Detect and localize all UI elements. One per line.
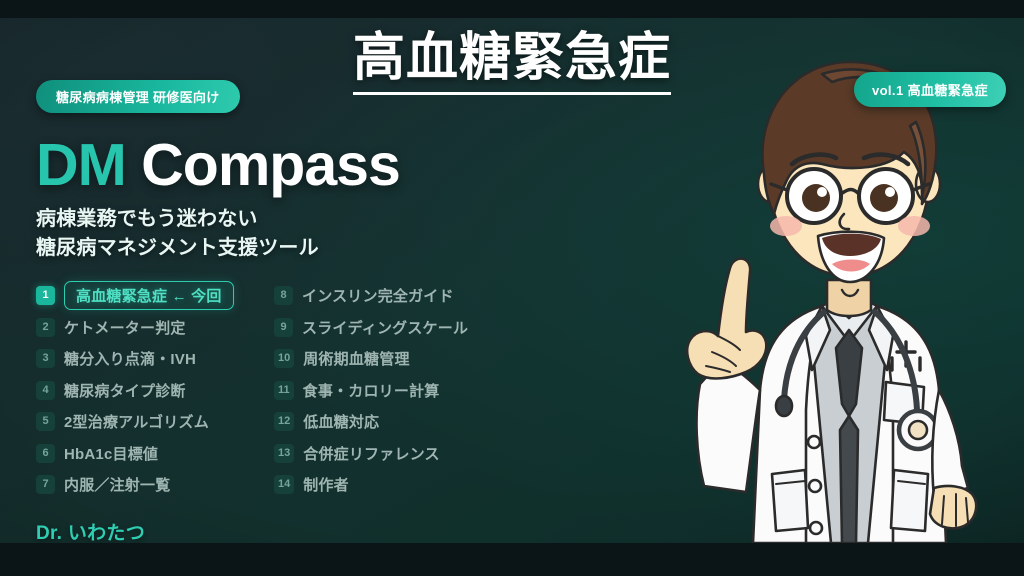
index-item-number: 13 [274, 444, 294, 463]
index-item-14[interactable]: 14制作者 [274, 469, 506, 501]
index-item-5[interactable]: 52型治療アルゴリズム [36, 406, 268, 438]
index-item-3[interactable]: 3糖分入り点滴・IVH [36, 343, 268, 375]
volume-badge: vol.1 高血糖緊急症 [854, 72, 1006, 107]
index-item-label: スライディングスケール [302, 317, 468, 338]
index-item-label: ケトメーター判定 [64, 317, 186, 338]
index-item-13[interactable]: 13合併症リファレンス [274, 437, 506, 469]
index-item-label: 高血糖緊急症 ← 今回 [76, 288, 222, 305]
index-item-number: 6 [36, 444, 55, 463]
index-item-number: 1 [36, 286, 55, 305]
slide-background: 高血糖緊急症 vol.1 高血糖緊急症 糖尿病病棟管理 研修医向け DM Com… [0, 18, 1024, 543]
index-item-label: 周術期血糖管理 [303, 348, 409, 369]
brand-logo-accent: DM [36, 132, 126, 198]
index-list: 1高血糖緊急症 ← 今回8インスリン完全ガイド2ケトメーター判定9スライディング… [36, 280, 556, 501]
index-item-label: インスリン完全ガイド [302, 285, 454, 306]
index-item-label: 食事・カロリー計算 [303, 380, 440, 401]
audience-badge: 糖尿病病棟管理 研修医向け [36, 80, 240, 113]
index-item-4[interactable]: 4糖尿病タイプ診断 [36, 374, 268, 406]
index-item-number: 8 [274, 286, 293, 305]
index-item-label: 低血糖対応 [303, 411, 379, 432]
index-item-number: 14 [274, 475, 294, 494]
index-item-6[interactable]: 6HbA1c目標値 [36, 437, 268, 469]
index-item-2[interactable]: 2ケトメーター判定 [36, 311, 268, 343]
index-item-9[interactable]: 9スライディングスケール [274, 311, 506, 343]
index-item-number: 4 [36, 381, 55, 400]
index-item-8[interactable]: 8インスリン完全ガイド [274, 280, 506, 312]
index-item-active-highlight: 高血糖緊急症 ← 今回 [64, 281, 234, 310]
index-item-label: 糖分入り点滴・IVH [64, 348, 196, 369]
author-block: Dr. いわたつ 糖尿病・内分泌専門医 [36, 518, 159, 543]
index-item-number: 10 [274, 349, 294, 368]
left-content-column: 糖尿病病棟管理 研修医向け DM Compass 病棟業務でもう迷わない 糖尿病… [36, 80, 556, 500]
index-item-7[interactable]: 7内服／注射一覧 [36, 469, 268, 501]
index-item-number: 3 [36, 349, 55, 368]
index-item-1[interactable]: 1高血糖緊急症 ← 今回 [36, 280, 268, 312]
index-item-number: 2 [36, 318, 55, 337]
brand-logo-rest: Compass [141, 132, 400, 198]
index-item-label: 合併症リファレンス [303, 443, 440, 464]
index-item-label: 2型治療アルゴリズム [64, 411, 209, 432]
slide-canvas: 高血糖緊急症 vol.1 高血糖緊急症 糖尿病病棟管理 研修医向け DM Com… [0, 0, 1024, 576]
index-item-11[interactable]: 11食事・カロリー計算 [274, 374, 506, 406]
index-item-number: 9 [274, 318, 293, 337]
index-item-label: 糖尿病タイプ診断 [64, 380, 186, 401]
index-item-label: 制作者 [303, 474, 349, 495]
index-item-12[interactable]: 12低血糖対応 [274, 406, 506, 438]
index-item-label: HbA1c目標値 [64, 443, 158, 464]
author-name: Dr. いわたつ [36, 518, 159, 543]
letterbox-top [0, 0, 1024, 18]
index-item-10[interactable]: 10周術期血糖管理 [274, 343, 506, 375]
index-item-number: 7 [36, 475, 55, 494]
tagline-line-1: 病棟業務でもう迷わない [36, 205, 556, 233]
index-item-number: 5 [36, 412, 55, 431]
tagline-line-2: 糖尿病マネジメント支援ツール [36, 234, 556, 262]
brand-logo: DM Compass [36, 135, 556, 195]
index-item-label: 内服／注射一覧 [64, 474, 170, 495]
letterbox-bottom [0, 543, 1024, 576]
index-item-number: 12 [274, 412, 294, 431]
index-item-number: 11 [274, 381, 294, 400]
